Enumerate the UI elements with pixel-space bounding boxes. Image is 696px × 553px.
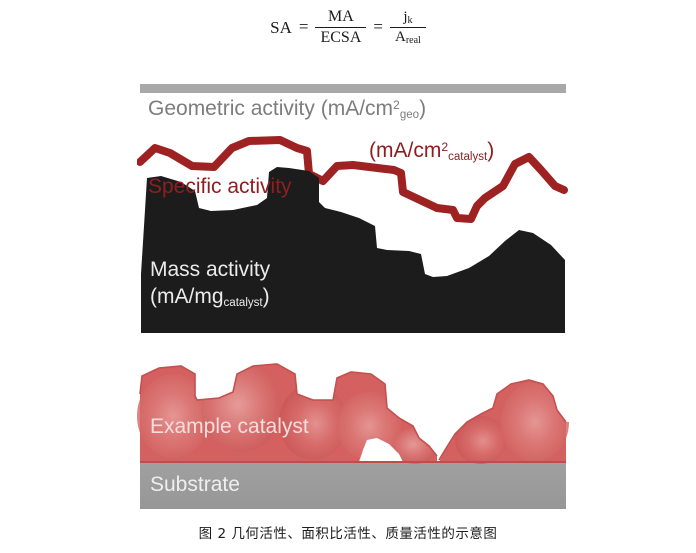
geometric-activity-bar (140, 84, 566, 93)
fraction-jk-over-areal: jk Areal (390, 9, 426, 47)
equation-equals-first: = (299, 17, 309, 37)
schematic-illustration (137, 78, 569, 512)
fraction-denominator-areal: Areal (390, 28, 426, 46)
specific-activity-line (140, 140, 564, 219)
equation-row: SA = MA ECSA = jk Areal (270, 8, 426, 47)
figure-caption: 图 2 几何活性、面积比活性、质量活性的示意图 (0, 522, 696, 542)
fraction-numerator-jk: jk (398, 9, 417, 27)
fraction-ma-over-ecsa: MA ECSA (315, 8, 366, 47)
equation-block: SA = MA ECSA = jk Areal (0, 8, 696, 47)
substrate-band (140, 462, 566, 509)
figure-panel: Geometric activity (mA/cm2geo) Specific … (137, 78, 569, 512)
areal-base: A (395, 29, 406, 45)
catalyst-particle-layer (137, 348, 569, 464)
areal-subscript: real (406, 35, 421, 46)
equation-lhs: SA (270, 19, 292, 36)
fraction-numerator-ma: MA (323, 8, 359, 27)
jk-subscript: k (407, 15, 412, 26)
fraction-denominator-ecsa: ECSA (315, 28, 366, 47)
equation-equals-second: = (373, 17, 383, 37)
mass-activity-silhouette (141, 167, 565, 333)
